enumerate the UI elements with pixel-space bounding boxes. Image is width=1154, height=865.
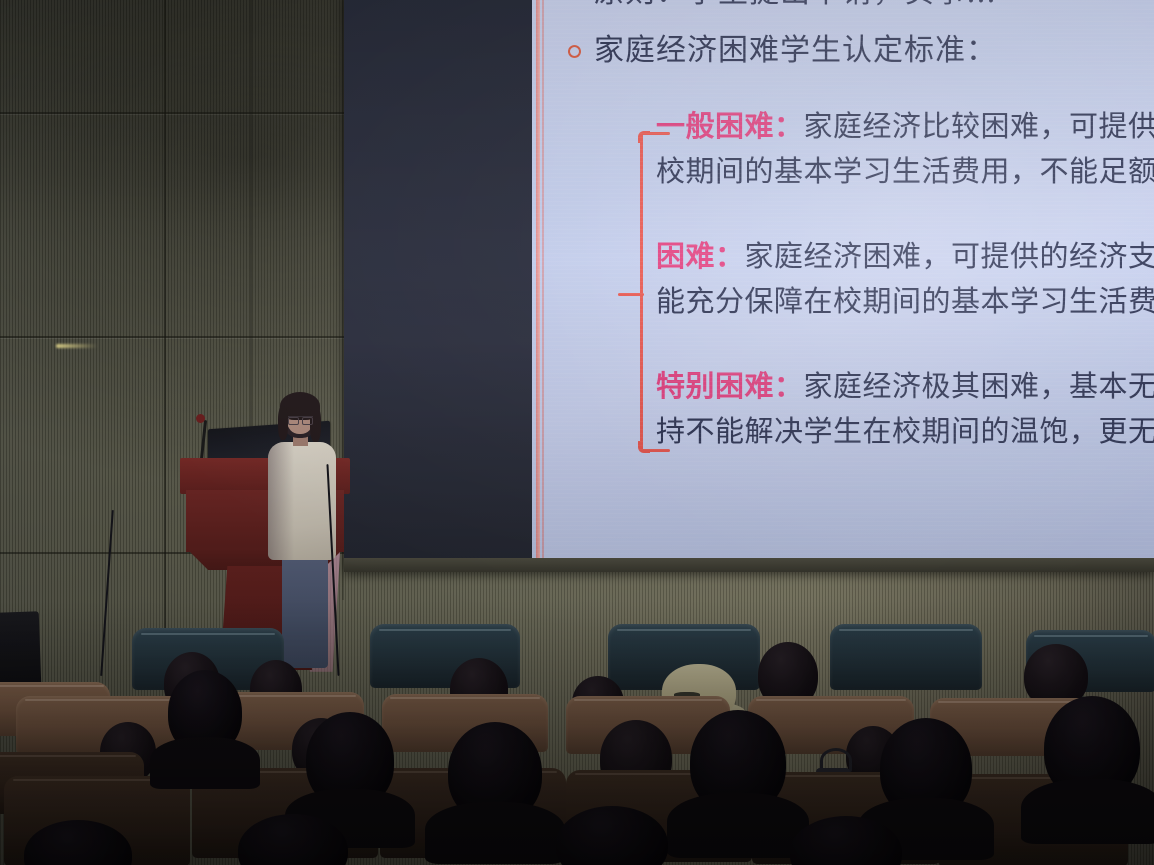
circle-bullet-icon <box>568 45 581 58</box>
paragraph-lead-label: 困难： <box>656 239 745 273</box>
presenter-jacket-shadow <box>268 442 294 560</box>
presenter-hair-left <box>278 406 288 440</box>
slide-bullet-text: 原则：学生提出申请，实事… <box>594 0 997 11</box>
slide-content: 原则：学生提出申请，实事… 家庭经济困难学生认定标准： <box>558 0 1154 558</box>
paragraph-line-text: 校期间的基本学习生活费用，不能足额缴纳学 <box>656 149 1154 194</box>
foreground-head <box>880 718 972 818</box>
slide-bullet-criteria-heading: 家庭经济困难学生认定标准： <box>568 32 997 69</box>
slide-left-border <box>536 0 540 558</box>
slide-bullet-principle: 原则：学生提出申请，实事… <box>568 0 997 11</box>
paragraph-line: 困难：家庭经济困难，可提供的经济支持仅能 <box>656 234 1154 279</box>
presentation-slide: 原则：学生提出申请，实事… 家庭经济困难学生认定标准： <box>532 0 1154 558</box>
foreground-head <box>306 712 394 808</box>
paragraph-line-text: 持不能解决学生在校期间的温饱，更无力缴纳 <box>656 409 1154 454</box>
wall-light-reflection <box>56 344 98 348</box>
gooseneck-microphone-icon <box>200 420 207 460</box>
paragraph-line: 特别困难：家庭经济极其困难，基本无生活来 <box>656 364 1154 409</box>
slide-left-border-inner <box>542 0 544 558</box>
foreground-head <box>168 670 242 754</box>
paragraph-line-text: 家庭经济比较困难，可提供的经济 <box>804 109 1154 143</box>
paragraph-line-text: 家庭经济极其困难，基本无生活来 <box>804 369 1154 403</box>
audience-area <box>0 600 1154 865</box>
paragraph-lead-label: 一般困难： <box>656 109 804 143</box>
slide-paragraph-special-difficulty: 特别困难：家庭经济极其困难，基本无生活来 持不能解决学生在校期间的温饱，更无力缴… <box>656 364 1154 454</box>
slide-bullet-text: 家庭经济困难学生认定标准： <box>594 32 997 69</box>
microphone-head-icon <box>196 414 205 423</box>
foreground-head <box>448 722 542 822</box>
slide-paragraph-difficulty: 困难：家庭经济困难，可提供的经济支持仅能 能充分保障在校期间的基本学习生活费用，… <box>656 234 1154 324</box>
paragraph-line: 一般困难：家庭经济比较困难，可提供的经济 <box>656 104 1154 149</box>
red-brace-bracket <box>618 127 648 457</box>
paragraph-line-text: 家庭经济困难，可提供的经济支持仅能 <box>745 239 1154 273</box>
glasses-icon <box>288 416 313 423</box>
foreground-head <box>1044 696 1140 800</box>
slide-paragraph-general-difficulty: 一般困难：家庭经济比较困难，可提供的经济 校期间的基本学习生活费用，不能足额缴纳… <box>656 104 1154 194</box>
floor-loudspeaker <box>0 611 41 686</box>
paragraph-line-text: 能充分保障在校期间的基本学习生活费用，无 <box>656 279 1154 324</box>
paragraph-lead-label: 特别困难： <box>656 369 804 403</box>
lecture-hall-photo: 原则：学生提出申请，实事… 家庭经济困难学生认定标准： <box>0 0 1154 865</box>
seat-back-row <box>830 624 982 690</box>
screen-bottom-frame <box>344 558 1154 572</box>
foreground-head <box>690 710 786 814</box>
projection-screen: 原则：学生提出申请，实事… 家庭经济困难学生认定标准： <box>344 0 1154 572</box>
